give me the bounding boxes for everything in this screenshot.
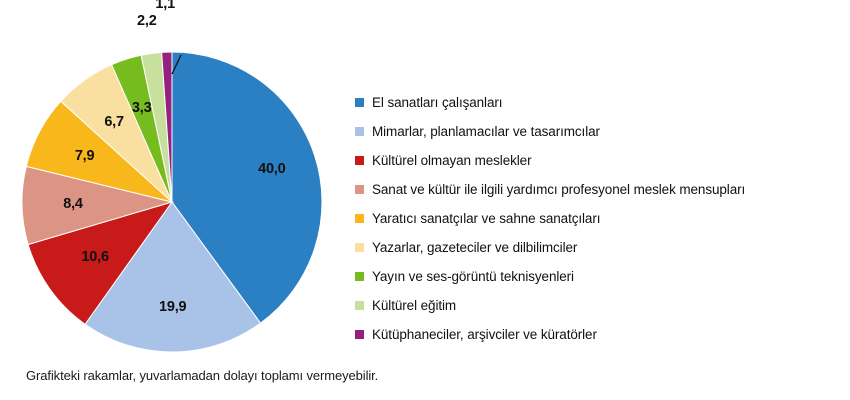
legend-item-label: Kültürel eğitim [372,298,456,313]
legend-item-label: Yayın ve ses-görüntü teknisyenleri [372,269,574,284]
legend-item[interactable]: Yayın ve ses-görüntü teknisyenleri [355,262,845,291]
legend-item[interactable]: Kültürel olmayan meslekler [355,146,845,175]
legend-item[interactable]: Sanat ve kültür ile ilgili yardımcı prof… [355,175,845,204]
pie-value-label: 40,0 [258,161,285,177]
legend-item-label: Sanat ve kültür ile ilgili yardımcı prof… [372,182,745,197]
legend-swatch-icon [355,127,364,136]
legend-item-label: Mimarlar, planlamacılar ve tasarımcılar [372,124,600,139]
legend-swatch-icon [355,98,364,107]
legend-swatch-icon [355,156,364,165]
footnote: Grafikteki rakamlar, yuvarlamadan dolayı… [26,368,378,383]
pie-value-label: 6,7 [104,114,124,130]
pie-value-label: 8,4 [63,196,83,212]
legend-item-label: Kütüphaneciler, arşivciler ve küratörler [372,327,597,342]
pie-value-label: 2,2 [137,13,157,29]
legend-item-label: El sanatları çalışanları [372,95,502,110]
legend-swatch-icon [355,272,364,281]
legend-item[interactable]: Mimarlar, planlamacılar ve tasarımcılar [355,117,845,146]
legend-item[interactable]: Yaratıcı sanatçılar ve sahne sanatçıları [355,204,845,233]
legend-item[interactable]: Kültürel eğitim [355,291,845,320]
legend-item-label: Kültürel olmayan meslekler [372,153,531,168]
pie-value-label: 19,9 [159,299,186,315]
pie-plot-area: 40,019,910,68,47,96,73,32,21,1 [0,0,350,360]
pie-value-label: 1,1 [155,0,175,12]
legend-item[interactable]: El sanatları çalışanları [355,88,845,117]
legend-item[interactable]: Kütüphaneciler, arşivciler ve küratörler [355,320,845,349]
legend-item-label: Yaratıcı sanatçılar ve sahne sanatçıları [372,211,600,226]
legend-swatch-icon [355,301,364,310]
pie-value-label: 10,6 [81,249,108,265]
legend-swatch-icon [355,330,364,339]
pie-chart: 40,019,910,68,47,96,73,32,21,1 El sanatl… [0,0,850,400]
legend-swatch-icon [355,243,364,252]
legend-item[interactable]: Yazarlar, gazeteciler ve dilbilimciler [355,233,845,262]
legend-swatch-icon [355,185,364,194]
legend-swatch-icon [355,214,364,223]
pie-value-label: 3,3 [132,100,152,116]
legend: El sanatları çalışanlarıMimarlar, planla… [355,88,845,349]
legend-item-label: Yazarlar, gazeteciler ve dilbilimciler [372,240,577,255]
pie-value-label: 7,9 [75,148,95,164]
